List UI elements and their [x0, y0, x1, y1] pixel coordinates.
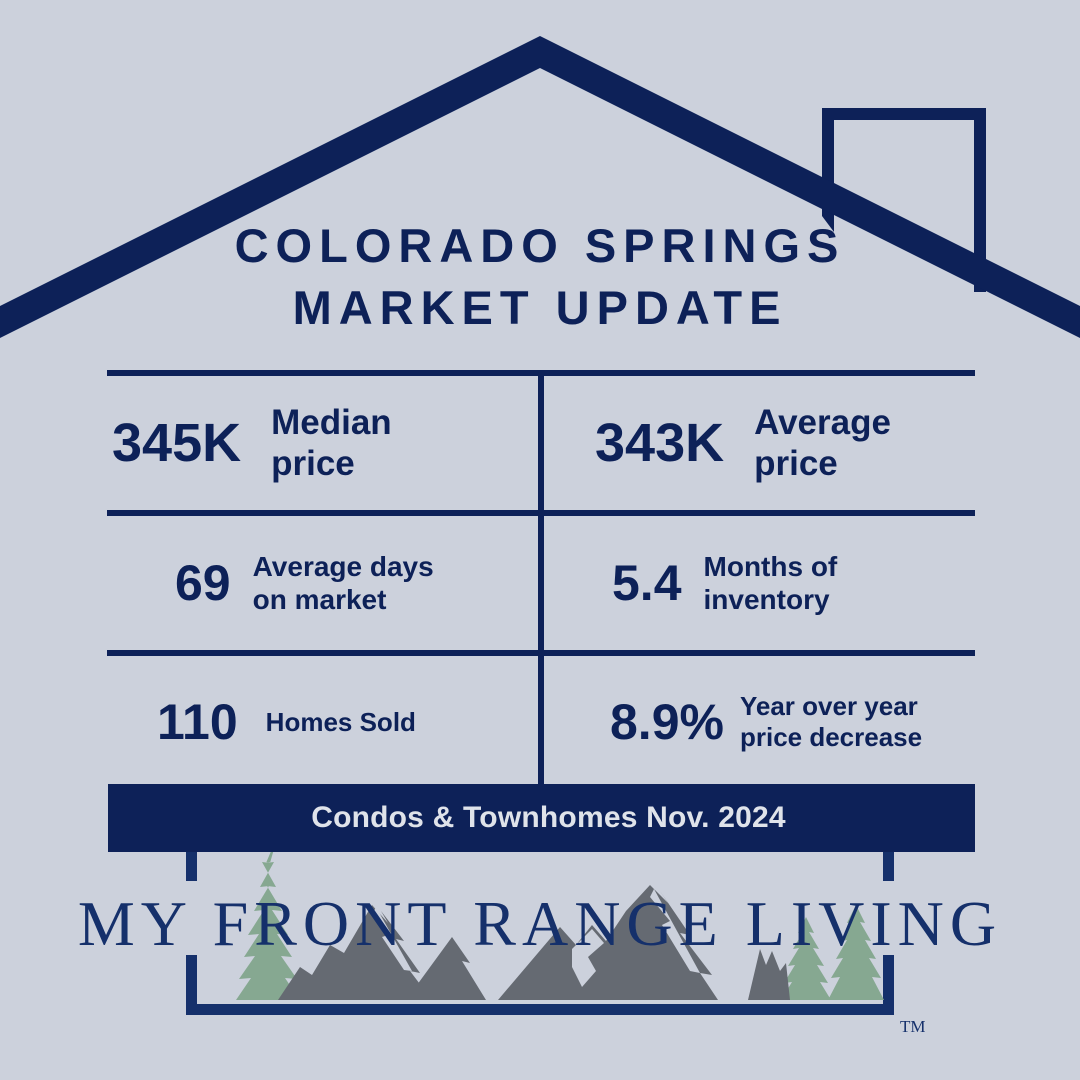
page-title: COLORADO SPRINGS MARKET UPDATE	[0, 215, 1080, 339]
stat-label-line1: Months of	[704, 551, 838, 582]
stat-months-of-inventory: 5.4 Months of inventory	[544, 516, 975, 650]
stat-average-days-on-market: 69 Average days on market	[107, 516, 538, 650]
stats-grid: 345K Median price 343K Average price 69 …	[107, 370, 975, 788]
stat-value: 8.9%	[610, 697, 724, 747]
stat-label: Average days on market	[253, 550, 434, 616]
stat-label-line1: Average	[754, 403, 891, 442]
stat-label: Average price	[754, 402, 891, 485]
title-line-1: COLORADO SPRINGS	[0, 215, 1080, 277]
brand-logo: MY FRONT RANGE LIVING TM	[0, 845, 1080, 1080]
stat-label: Year over year price decrease	[740, 691, 922, 752]
stat-label-line2: price	[271, 444, 355, 483]
logo-wordmark: MY FRONT RANGE LIVING	[0, 887, 1080, 961]
stat-value: 345K	[112, 416, 241, 470]
stat-label-line2: inventory	[704, 584, 830, 615]
stat-label: Median price	[271, 402, 392, 485]
stat-label-line1: Average days	[253, 551, 434, 582]
stat-label-line2: price	[754, 444, 838, 483]
trademark-symbol: TM	[900, 1017, 926, 1037]
stat-average-price: 343K Average price	[544, 376, 975, 510]
stat-value: 343K	[595, 416, 724, 470]
stat-median-price: 345K Median price	[107, 376, 538, 510]
stat-label: Homes Sold	[266, 707, 416, 738]
stat-label: Months of inventory	[704, 550, 838, 616]
stat-homes-sold: 110 Homes Sold	[107, 656, 538, 788]
period-banner: Condos & Townhomes Nov. 2024	[108, 784, 975, 852]
stat-value: 110	[157, 697, 238, 747]
stat-label-line1: Year over year	[740, 691, 918, 721]
stat-value: 5.4	[612, 558, 682, 608]
stat-year-over-year-price-decrease: 8.9% Year over year price decrease	[544, 656, 975, 788]
stat-label-line2: on market	[253, 584, 387, 615]
market-update-infographic: COLORADO SPRINGS MARKET UPDATE 345K Medi…	[0, 0, 1080, 1080]
period-banner-text: Condos & Townhomes Nov. 2024	[108, 784, 975, 852]
logo-artwork	[0, 845, 1080, 1080]
stat-label-line2: price decrease	[740, 722, 922, 752]
stat-label-line1: Median	[271, 403, 392, 442]
stat-value: 69	[175, 558, 231, 608]
title-line-2: MARKET UPDATE	[0, 277, 1080, 339]
